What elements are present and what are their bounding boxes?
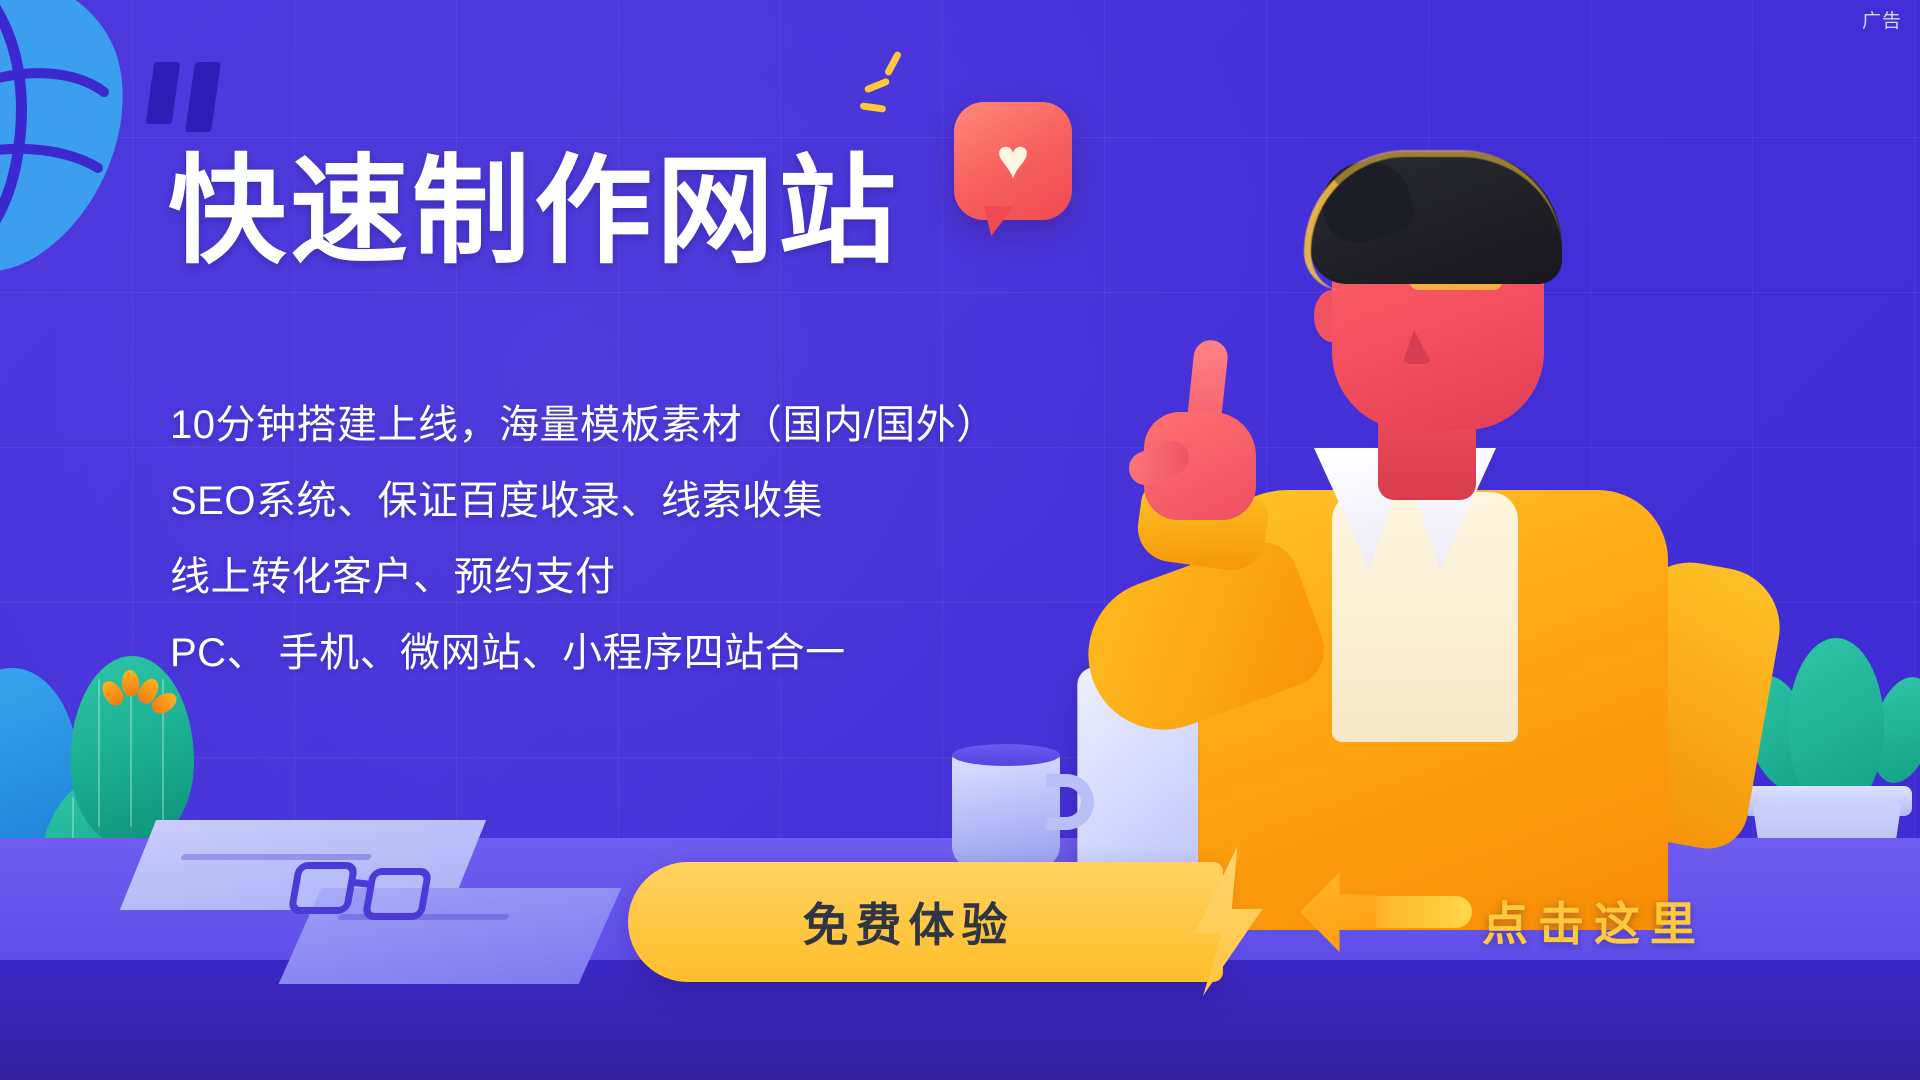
free-trial-button[interactable]: 免费体验 [628, 862, 1223, 982]
sparkle-icon [860, 58, 940, 128]
ad-banner[interactable]: 广告 快速制作网站 10分钟搭建上线，海量模板素材（国内/国外） SEO [0, 0, 1920, 1080]
heart-glyph: ♥ [996, 131, 1029, 187]
feature-line: PC、 手机、微网站、小程序四站合一 [170, 633, 997, 673]
heart-badge-icon: ♥ [954, 102, 1072, 220]
arrow-left-icon [1300, 872, 1472, 952]
click-here-hint: 点击这里 [1482, 888, 1706, 954]
ad-label: 广告 [1862, 6, 1902, 33]
feature-list: 10分钟搭建上线，海量模板素材（国内/国外） SEO系统、保证百度收录、线索收集… [170, 405, 997, 673]
page-title: 快速制作网站 [168, 150, 900, 275]
feature-line: 线上转化客户、预约支付 [170, 557, 997, 597]
coffee-mug [952, 752, 1060, 868]
feature-line: 10分钟搭建上线，海量模板素材（国内/国外） [170, 405, 997, 445]
feature-line: SEO系统、保证百度收录、线索收集 [170, 481, 997, 521]
pointing-hand-icon [1134, 340, 1284, 520]
leaf-decoration [0, 0, 188, 282]
